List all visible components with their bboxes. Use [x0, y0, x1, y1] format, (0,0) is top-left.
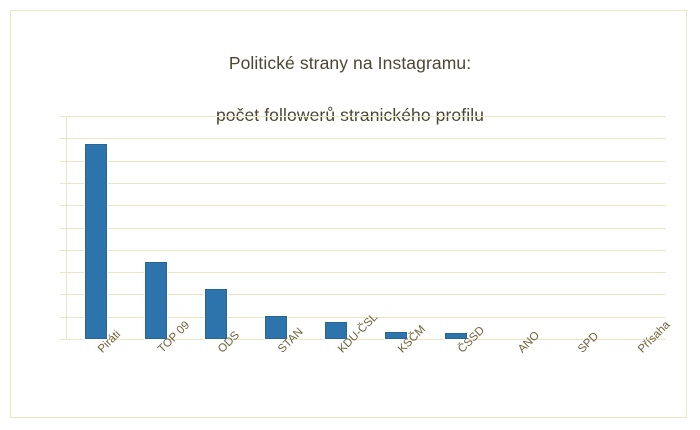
- plot-area: 50 00045 00040 00035 00030 00025 00020 0…: [66, 116, 666, 339]
- axis-tick: [60, 161, 66, 162]
- gridline: [66, 250, 666, 251]
- axis-tick: [60, 183, 66, 184]
- axis-tick: [60, 317, 66, 318]
- axis-tick: [60, 339, 66, 340]
- bar: [205, 289, 227, 339]
- gridline: [66, 116, 666, 117]
- gridline: [66, 228, 666, 229]
- gridline: [66, 205, 666, 206]
- chart-title-line-1: Politické strany na Instagramu:: [229, 53, 471, 73]
- gridline: [66, 138, 666, 139]
- bar: [145, 262, 167, 339]
- gridline: [66, 339, 666, 340]
- gridline: [66, 183, 666, 184]
- gridline: [66, 161, 666, 162]
- axis-tick: [60, 138, 66, 139]
- bar: [85, 144, 107, 339]
- chart-title: Politické strany na Instagramu: počet fo…: [0, 24, 700, 128]
- axis-tick: [60, 294, 66, 295]
- bar: [265, 316, 287, 339]
- axis-tick: [60, 250, 66, 251]
- axis-tick: [60, 205, 66, 206]
- bar: [325, 322, 347, 339]
- axis-tick: [60, 228, 66, 229]
- axis-tick: [60, 116, 66, 117]
- chart-card: Politické strany na Instagramu: počet fo…: [0, 0, 700, 430]
- axis-tick: [60, 272, 66, 273]
